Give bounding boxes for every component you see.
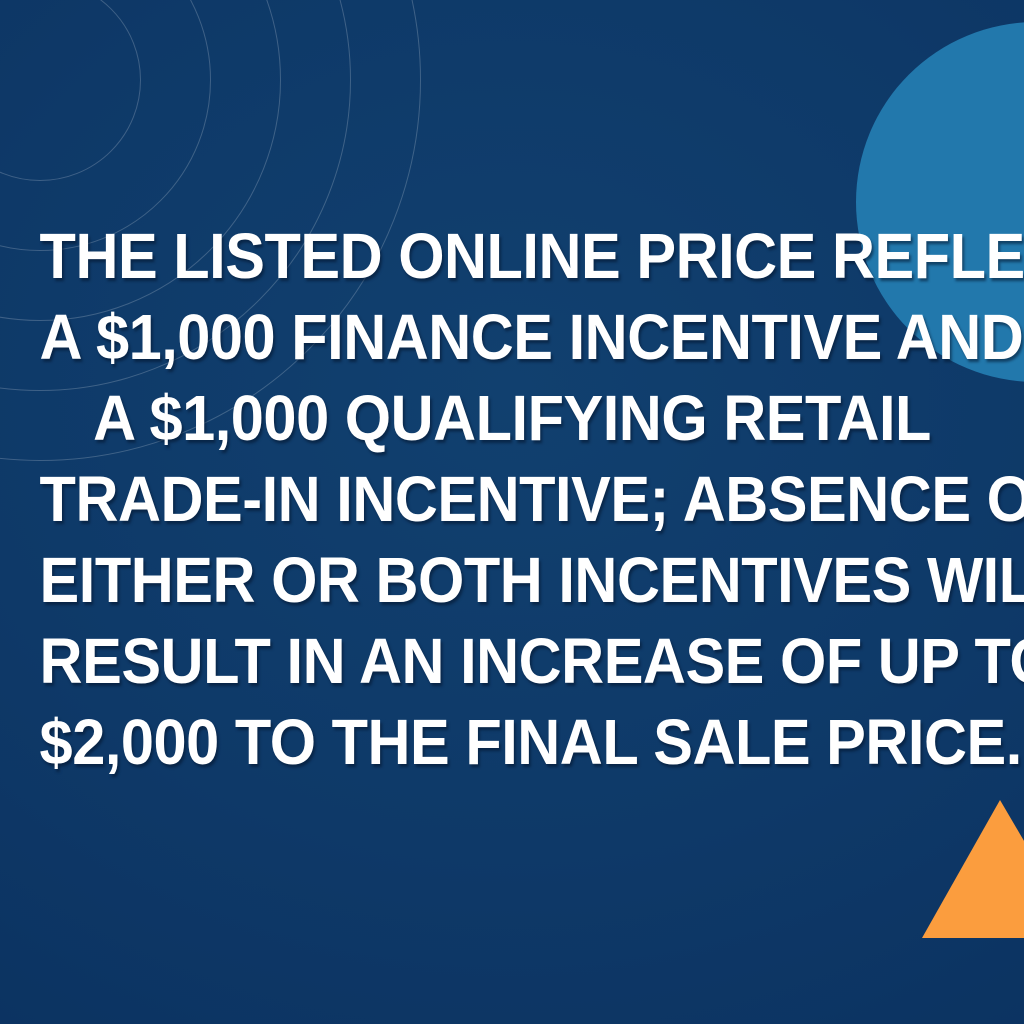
headline-line-1: THE LISTED ONLINE PRICE REFLECTS	[40, 216, 985, 297]
promo-disclaimer-canvas: THE LISTED ONLINE PRICE REFLECTS A $1,00…	[0, 0, 1024, 1024]
accent-triangle-decoration	[922, 800, 1024, 938]
disclaimer-headline: THE LISTED ONLINE PRICE REFLECTS A $1,00…	[0, 216, 1024, 783]
headline-line-4: TRADE-IN INCENTIVE; ABSENCE OF	[40, 459, 985, 540]
headline-line-7: $2,000 TO THE FINAL SALE PRICE.	[40, 702, 985, 783]
headline-line-5: EITHER OR BOTH INCENTIVES WILL	[40, 540, 985, 621]
headline-line-6: RESULT IN AN INCREASE OF UP TO	[40, 621, 985, 702]
arc-ring-5	[0, 0, 141, 181]
arc-ring-4	[0, 0, 211, 251]
headline-line-2: A $1,000 FINANCE INCENTIVE AND	[40, 297, 985, 378]
headline-line-3: A $1,000 QUALIFYING RETAIL	[40, 378, 985, 459]
